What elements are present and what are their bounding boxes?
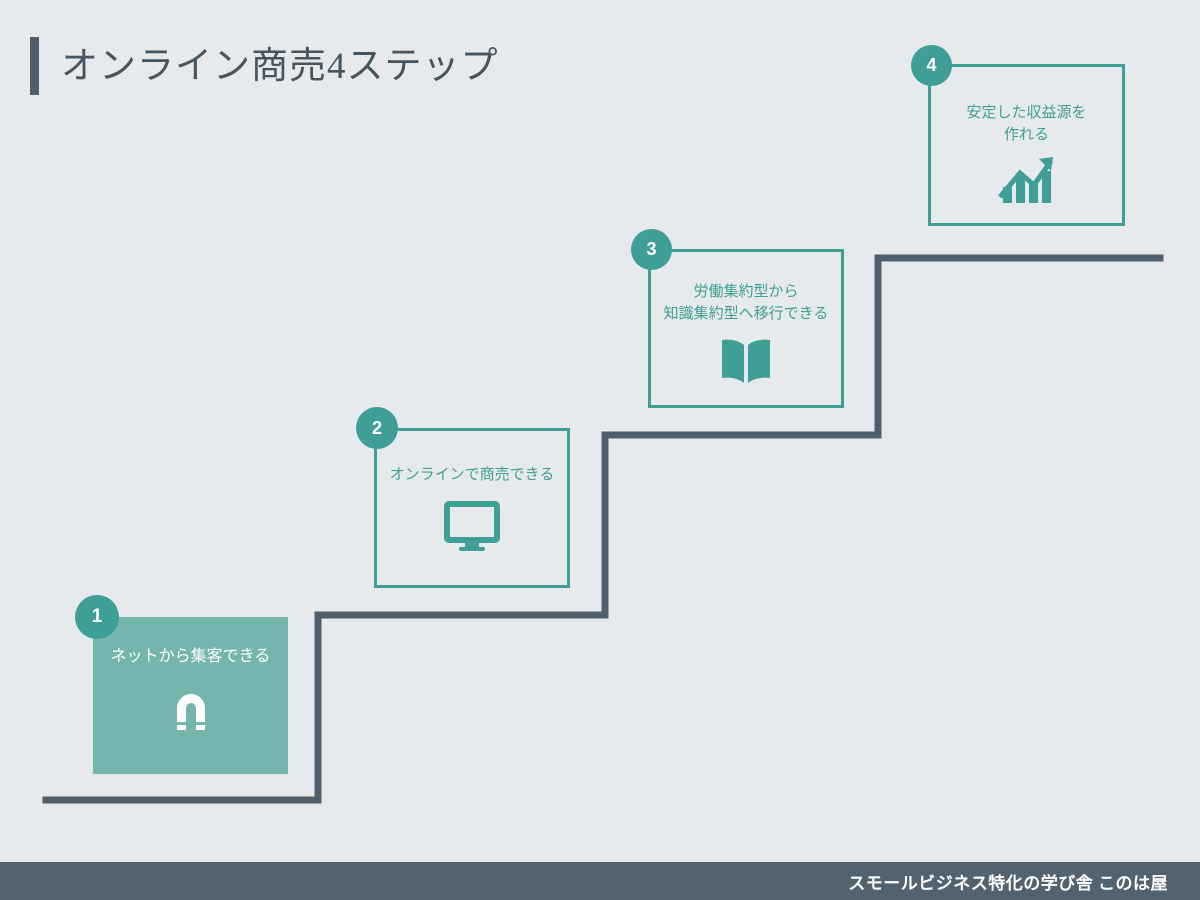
title-text: オンライン商売4ステップ [61, 48, 499, 85]
step-card-1-label: ネットから集客できる [111, 645, 271, 668]
step-card-3-label: 労働集約型から 知識集約型へ移行できる [664, 282, 829, 326]
magnet-icon [165, 684, 217, 736]
step-card-1[interactable]: ネットから集客できる 1 [93, 617, 288, 774]
growth-chart-icon [996, 153, 1058, 205]
step-card-1-body: ネットから集客できる [93, 617, 288, 774]
step-card-4-body: 安定した収益源を 作れる [928, 64, 1125, 226]
step-badge-4: 4 [911, 45, 952, 86]
open-book-icon [716, 336, 776, 386]
step-badge-3: 3 [631, 229, 672, 270]
step-card-2[interactable]: オンラインで商売できる 2 [374, 428, 570, 588]
step-badge-1: 1 [75, 595, 119, 639]
step-card-4[interactable]: 安定した収益源を 作れる 4 [928, 64, 1125, 226]
footer-brand-text: スモールビジネス特化の学び舎 このは屋 [848, 869, 1168, 894]
step-card-3[interactable]: 労働集約型から 知識集約型へ移行できる 3 [648, 249, 844, 408]
step-card-2-body: オンラインで商売できる [374, 428, 570, 588]
page-title: オンライン商売4ステップ [30, 36, 499, 96]
slide-canvas: オンライン商売4ステップ ネットから集客できる 1 オンラインで商売できる [0, 0, 1200, 900]
step-badge-2: 2 [356, 407, 398, 449]
step-card-3-body: 労働集約型から 知識集約型へ移行できる [648, 249, 844, 408]
step-card-4-label: 安定した収益源を 作れる [966, 103, 1086, 147]
step-card-2-label: オンラインで商売できる [390, 465, 555, 487]
title-accent-bar [30, 37, 39, 95]
monitor-icon [443, 501, 501, 553]
footer-bar: スモールビジネス特化の学び舎 このは屋 [0, 862, 1200, 900]
